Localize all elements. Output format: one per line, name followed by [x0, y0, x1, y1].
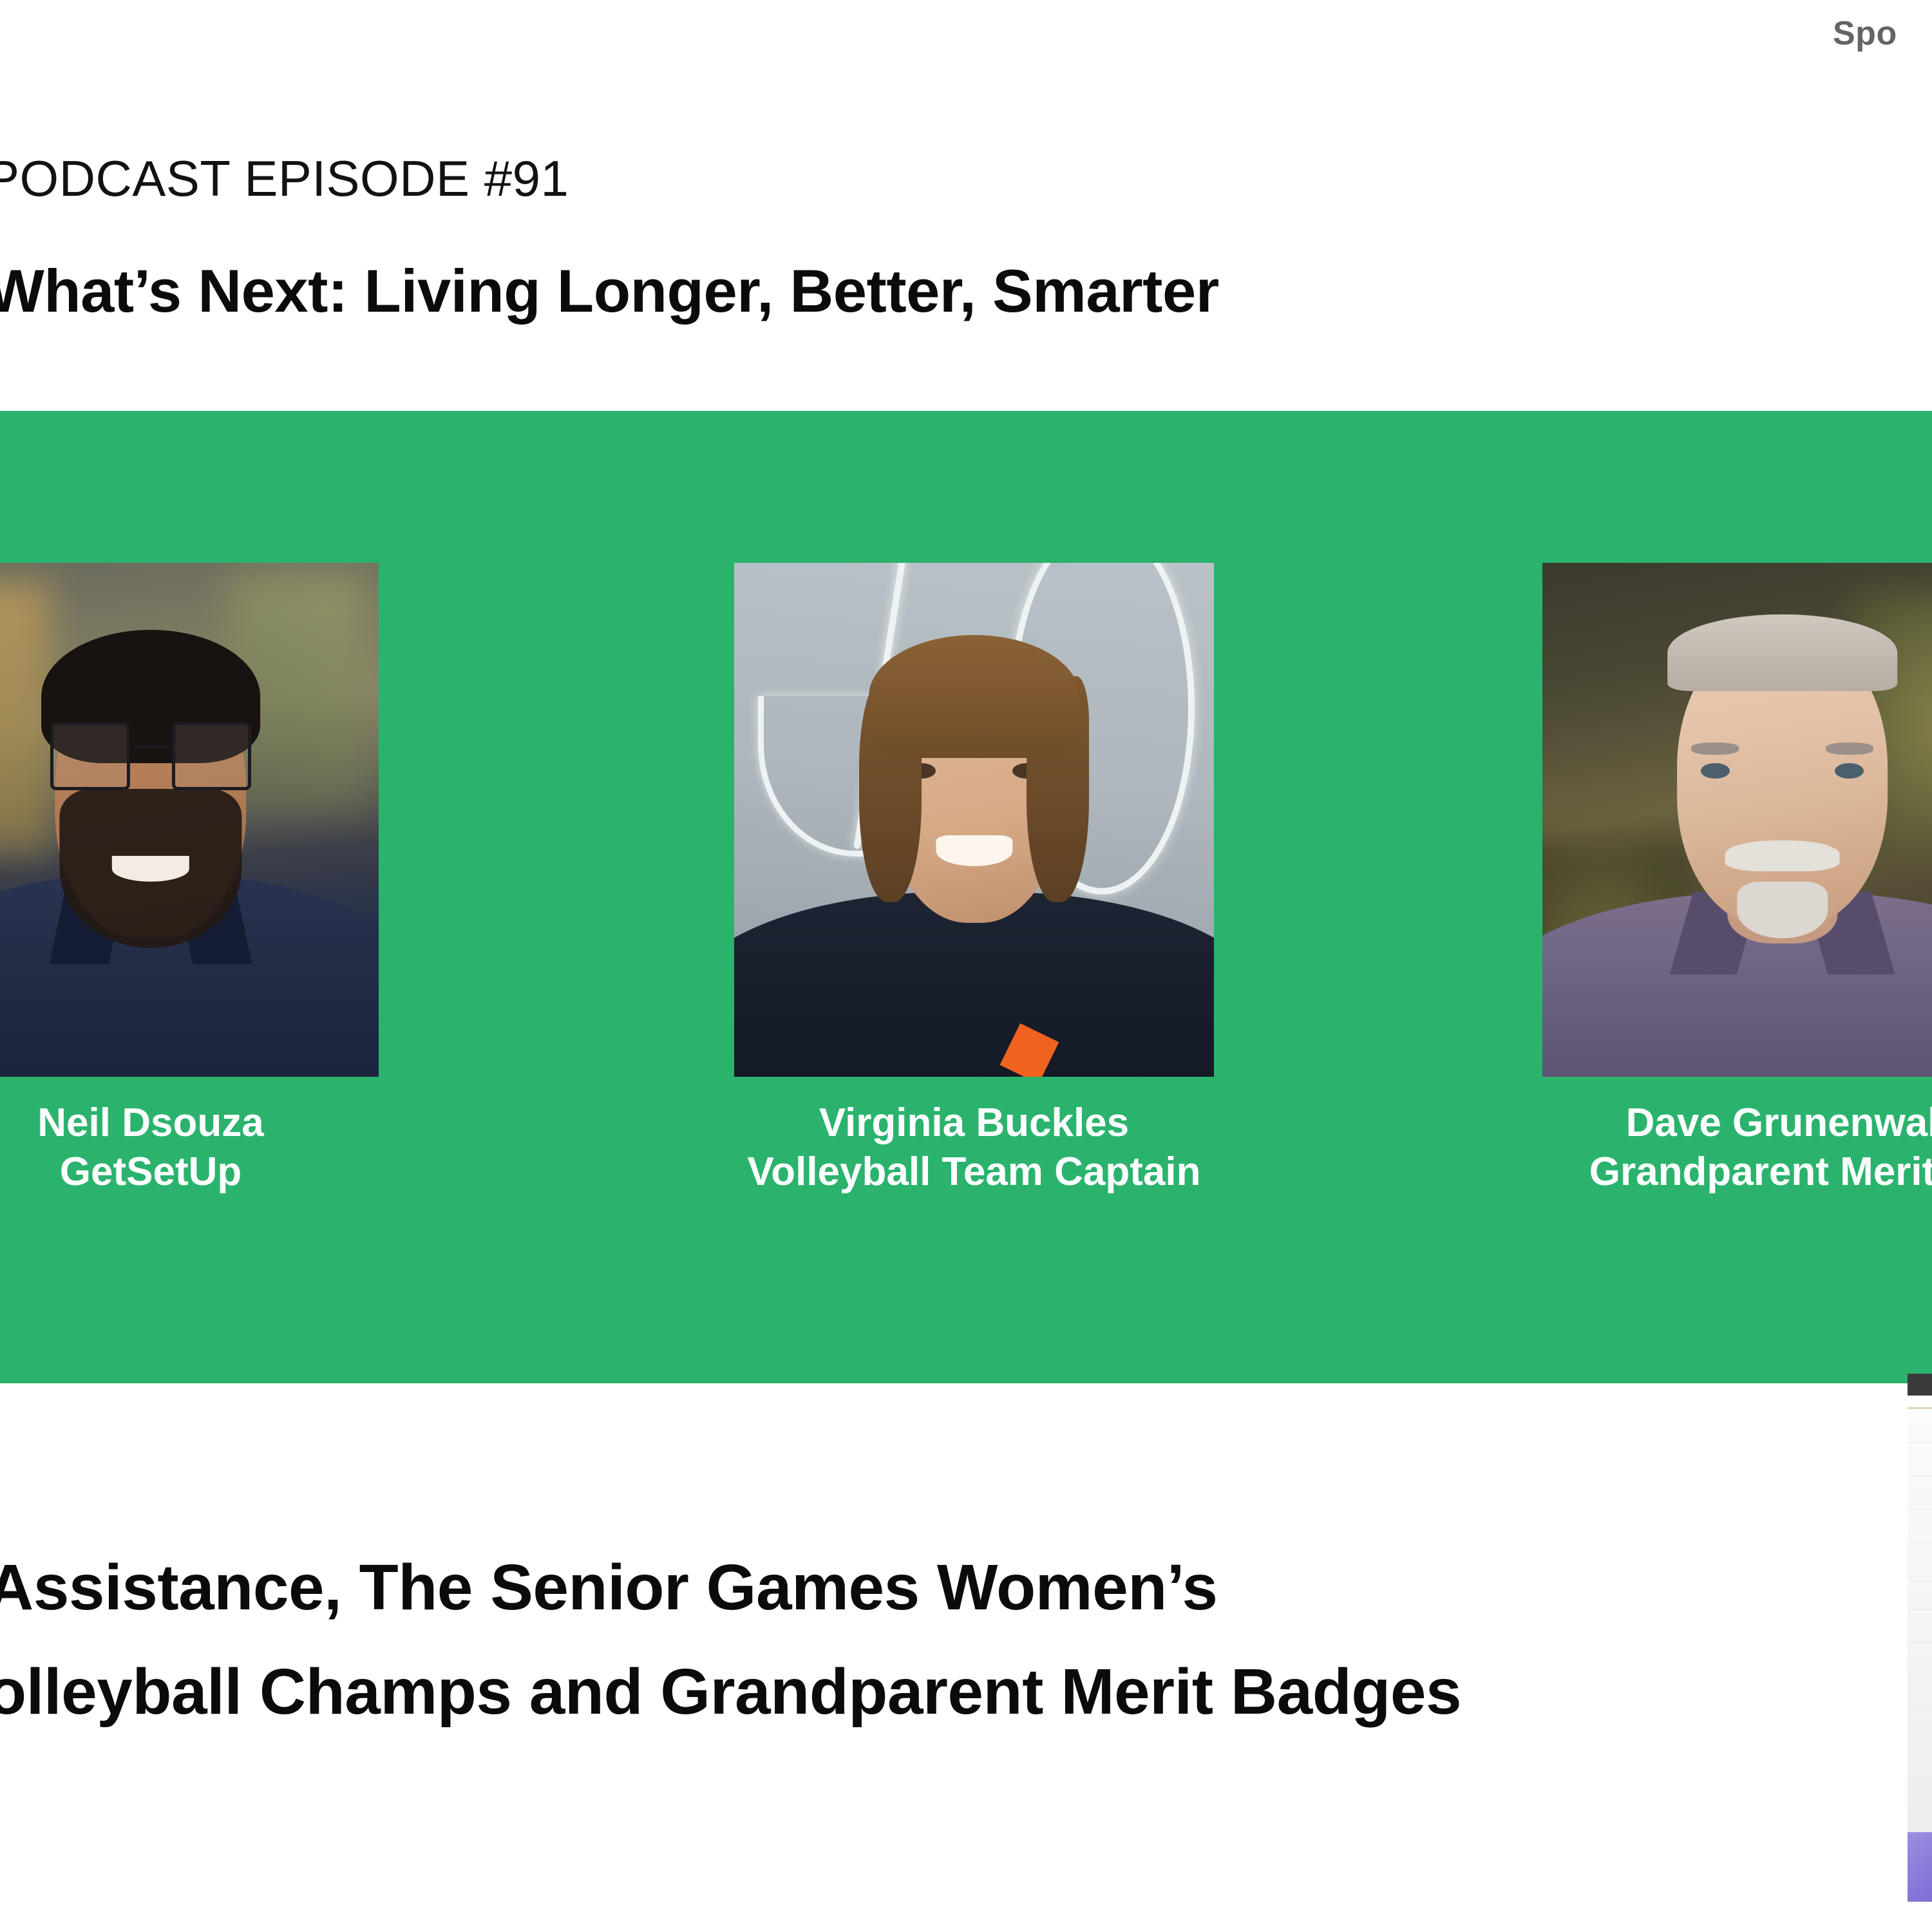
photo-smile	[936, 835, 1012, 866]
photo-mustache	[1725, 840, 1840, 871]
page-title: What’s Next: Living Longer, Better, Smar…	[0, 256, 1219, 326]
speaker-card-1: Neil Dsouza GetSetUp	[0, 563, 379, 1196]
list-item[interactable]	[1908, 1643, 1932, 1677]
speaker-photo-virginia-buckles	[734, 563, 1214, 1077]
photo-eyeglasses-bridge	[133, 745, 169, 748]
speaker-role: Grandparent Merit B	[1542, 1148, 1932, 1197]
list-item[interactable]	[1908, 1677, 1932, 1710]
speaker-photo-neil-dsouza	[0, 563, 379, 1077]
photo-mouth	[112, 856, 189, 882]
bottom-headline-line-2: olleyball Champs and Grandparent Merit B…	[0, 1640, 1461, 1744]
side-panel-header	[1908, 1374, 1932, 1396]
speaker-role: GetSetUp	[0, 1148, 379, 1197]
side-panel-thumbnail[interactable]	[1908, 1832, 1932, 1902]
list-item[interactable]	[1908, 1610, 1932, 1643]
speaker-name: Dave Grunenwal	[1542, 1099, 1932, 1148]
list-item[interactable]	[1908, 1710, 1932, 1744]
side-panel-body[interactable]	[1908, 1407, 1932, 1860]
list-item[interactable]	[1908, 1777, 1932, 1811]
speaker-photo-dave-grunenwald	[1542, 563, 1932, 1077]
speaker-band: Neil Dsouza GetSetUp Virginia Buckles Vo…	[0, 411, 1932, 1383]
sponsor-label: Spo	[1833, 14, 1897, 53]
side-panel-card[interactable]	[1908, 1374, 1932, 1902]
list-item[interactable]	[1908, 1476, 1932, 1510]
list-item[interactable]	[1908, 1409, 1932, 1443]
photo-eye	[1701, 763, 1730, 779]
list-item[interactable]	[1908, 1510, 1932, 1543]
photo-hair	[1667, 614, 1898, 692]
list-item[interactable]	[1908, 1744, 1932, 1777]
photo-eyeglasses	[50, 722, 129, 790]
list-item[interactable]	[1908, 1443, 1932, 1476]
list-item[interactable]	[1908, 1577, 1932, 1610]
photo-eyebrow	[1826, 743, 1874, 755]
speaker-card-2: Virginia Buckles Volleyball Team Captain	[734, 563, 1214, 1196]
episode-eyebrow: PODCAST EPISODE #91	[0, 149, 569, 208]
photo-backdrop-logo	[889, 563, 1002, 625]
speaker-role: Volleyball Team Captain	[734, 1148, 1214, 1197]
photo-hair	[869, 635, 1080, 759]
bottom-headline-line-1: Assistance, The Senior Games Women’s	[0, 1551, 1217, 1624]
list-item[interactable]	[1908, 1543, 1932, 1577]
photo-goatee	[1737, 882, 1828, 938]
photo-eyeglasses	[172, 722, 251, 790]
speaker-name: Virginia Buckles	[734, 1099, 1214, 1148]
speaker-card-3: Dave Grunenwal Grandparent Merit B	[1542, 563, 1932, 1196]
photo-eyebrow	[1691, 743, 1739, 755]
speaker-name: Neil Dsouza	[0, 1099, 379, 1148]
bottom-headline: Assistance, The Senior Games Women’s oll…	[0, 1535, 1461, 1744]
